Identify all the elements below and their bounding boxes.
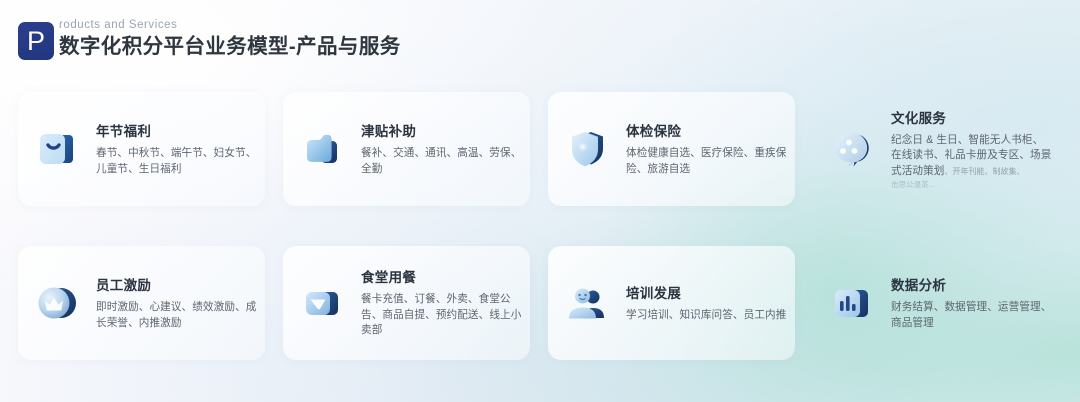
card-text: 体检保险 体检健康自选、医疗保险、重疾保险、旅游自选	[626, 121, 787, 177]
logo-p-icon: P	[18, 22, 54, 60]
gift-bag-icon	[30, 121, 86, 177]
wallet-icon	[295, 121, 351, 177]
card-text: 数据分析 财务结算、数据管理、运营管理、商品管理	[891, 275, 1052, 331]
card-description: 餐卡充值、订餐、外卖、食堂公告、商品自提、预约配送、线上小卖部	[361, 292, 522, 339]
card-description: 学习培训、知识库问答、员工内推	[626, 308, 786, 324]
card-text: 食堂用餐 餐卡充值、订餐、外卖、食堂公告、商品自提、预约配送、线上小卖部	[361, 267, 522, 339]
card-title: 文化服务	[891, 109, 1052, 128]
slide-canvas: P roducts and Services 数字化积分平台业务模型-产品与服务	[0, 0, 1080, 402]
service-card-employee-incentive[interactable]: 员工激励 即时激励、心建议、绩效激励、成长荣誉、内推激励	[18, 246, 265, 360]
card-description: 纪念日 & 生日、智能无人书柜、在线读书、礼品卡册及专区、场景式活动策划、开年刊…	[891, 133, 1052, 191]
service-card-training-development[interactable]: 培训发展 学习培训、知识库问答、员工内推	[548, 246, 795, 360]
card-title: 年节福利	[96, 122, 257, 141]
slide-header: P roducts and Services 数字化积分平台业务模型-产品与服务	[18, 18, 401, 61]
card-text: 津贴补助 餐补、交通、通讯、高温、劳保、全勤	[361, 121, 522, 177]
card-description: 春节、中秋节、端午节、妇女节、儿童节、生日福利	[96, 146, 257, 177]
service-card-allowance[interactable]: 津贴补助 餐补、交通、通讯、高温、劳保、全勤	[283, 92, 530, 206]
card-text: 员工激励 即时激励、心建议、绩效激励、成长荣誉、内推激励	[96, 275, 257, 331]
bar-chart-icon	[825, 275, 881, 331]
card-description-faded: 、开年刊能、制故集、	[944, 167, 1024, 176]
people-icon	[560, 275, 616, 331]
card-description: 体检健康自选、医疗保险、重疾保险、旅游自选	[626, 146, 787, 177]
card-title: 津贴补助	[361, 122, 522, 141]
crown-icon	[30, 275, 86, 331]
card-title: 员工激励	[96, 276, 257, 295]
service-card-data-analysis[interactable]: 数据分析 财务结算、数据管理、运营管理、商品管理	[813, 246, 1060, 360]
page-title: 数字化积分平台业务模型-产品与服务	[59, 33, 401, 61]
card-text: 文化服务 纪念日 & 生日、智能无人书柜、在线读书、礼品卡册及专区、场景式活动策…	[891, 108, 1052, 191]
card-text: 培训发展 学习培训、知识库问答、员工内推	[626, 283, 786, 324]
card-description: 餐补、交通、通讯、高温、劳保、全勤	[361, 146, 522, 177]
shield-icon	[560, 121, 616, 177]
service-card-holiday-benefits[interactable]: 年节福利 春节、中秋节、端午节、妇女节、儿童节、生日福利	[18, 92, 265, 206]
card-description: 即时激励、心建议、绩效激励、成长荣誉、内推激励	[96, 300, 257, 331]
service-card-grid: 年节福利 春节、中秋节、端午节、妇女节、儿童节、生日福利	[18, 92, 1064, 360]
meal-card-icon	[295, 275, 351, 331]
service-card-culture-service[interactable]: 文化服务 纪念日 & 生日、智能无人书柜、在线读书、礼品卡册及专区、场景式活动策…	[813, 92, 1060, 206]
card-title: 食堂用餐	[361, 268, 522, 287]
service-card-canteen-dining[interactable]: 食堂用餐 餐卡充值、订餐、外卖、食堂公告、商品自提、预约配送、线上小卖部	[283, 246, 530, 360]
title-block: roducts and Services 数字化积分平台业务模型-产品与服务	[59, 18, 401, 61]
card-description: 财务结算、数据管理、运营管理、商品管理	[891, 300, 1052, 331]
card-text: 年节福利 春节、中秋节、端午节、妇女节、儿童节、生日福利	[96, 121, 257, 177]
card-title: 培训发展	[626, 284, 786, 303]
card-title: 体检保险	[626, 122, 787, 141]
service-card-health-insurance[interactable]: 体检保险 体检健康自选、医疗保险、重疾保险、旅游自选	[548, 92, 795, 206]
card-title: 数据分析	[891, 276, 1052, 295]
card-description-faded-2: 击思公温茶...	[891, 179, 1052, 190]
culture-sphere-icon	[825, 121, 881, 177]
header-eyebrow: roducts and Services	[59, 18, 401, 32]
